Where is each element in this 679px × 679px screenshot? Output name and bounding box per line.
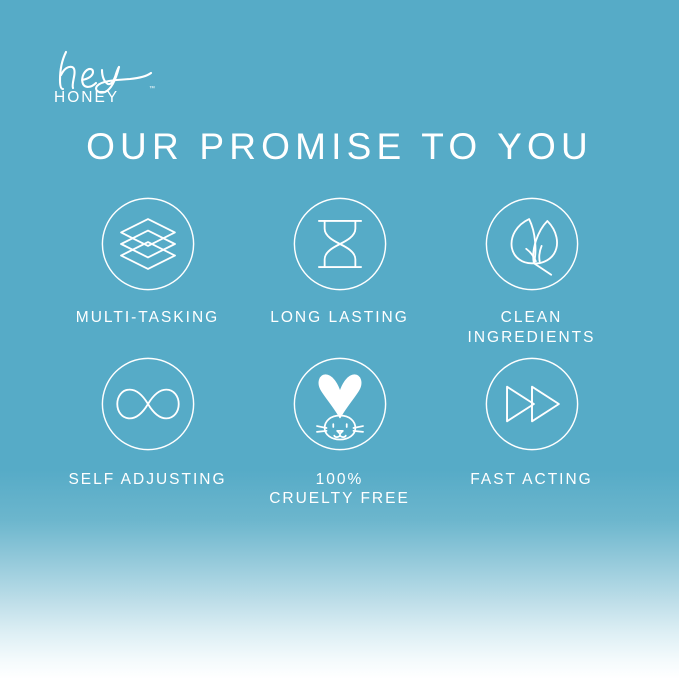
promise-label: 100% CRUELTY FREE (269, 470, 410, 510)
infinity-icon (100, 356, 196, 452)
promise-item-clean-ingredients: CLEAN INGREDIENTS (436, 196, 628, 348)
bunny-heart-icon (292, 356, 388, 452)
page-title: OUR PROMISE TO YOU (0, 126, 679, 169)
leaves-icon (484, 196, 580, 292)
promise-grid: MULTI-TASKING LONG LASTING (0, 196, 679, 509)
brand-wordmark: HONEY (54, 90, 119, 106)
fast-forward-icon (484, 356, 580, 452)
promise-row: SELF ADJUSTING (0, 356, 679, 510)
promise-panel: HONEY ™ OUR PROMISE TO YOU MULTI-TASKING (0, 0, 679, 679)
promise-item-long-lasting: LONG LASTING (244, 196, 436, 328)
hey-script-logo (52, 48, 162, 94)
hourglass-icon (292, 196, 388, 292)
promise-item-multi-tasking: MULTI-TASKING (52, 196, 244, 328)
promise-label: LONG LASTING (270, 308, 409, 328)
promise-label: MULTI-TASKING (76, 308, 219, 328)
promise-row: MULTI-TASKING LONG LASTING (0, 196, 679, 348)
promise-item-cruelty-free: 100% CRUELTY FREE (244, 356, 436, 510)
promise-item-self-adjusting: SELF ADJUSTING (52, 356, 244, 490)
brand-logo: HONEY ™ (52, 48, 202, 110)
promise-item-fast-acting: FAST ACTING (436, 356, 628, 490)
layers-icon (100, 196, 196, 292)
trademark-mark: ™ (149, 86, 155, 92)
promise-label: CLEAN INGREDIENTS (468, 308, 596, 348)
promise-label: SELF ADJUSTING (68, 470, 226, 490)
promise-label: FAST ACTING (470, 470, 593, 490)
